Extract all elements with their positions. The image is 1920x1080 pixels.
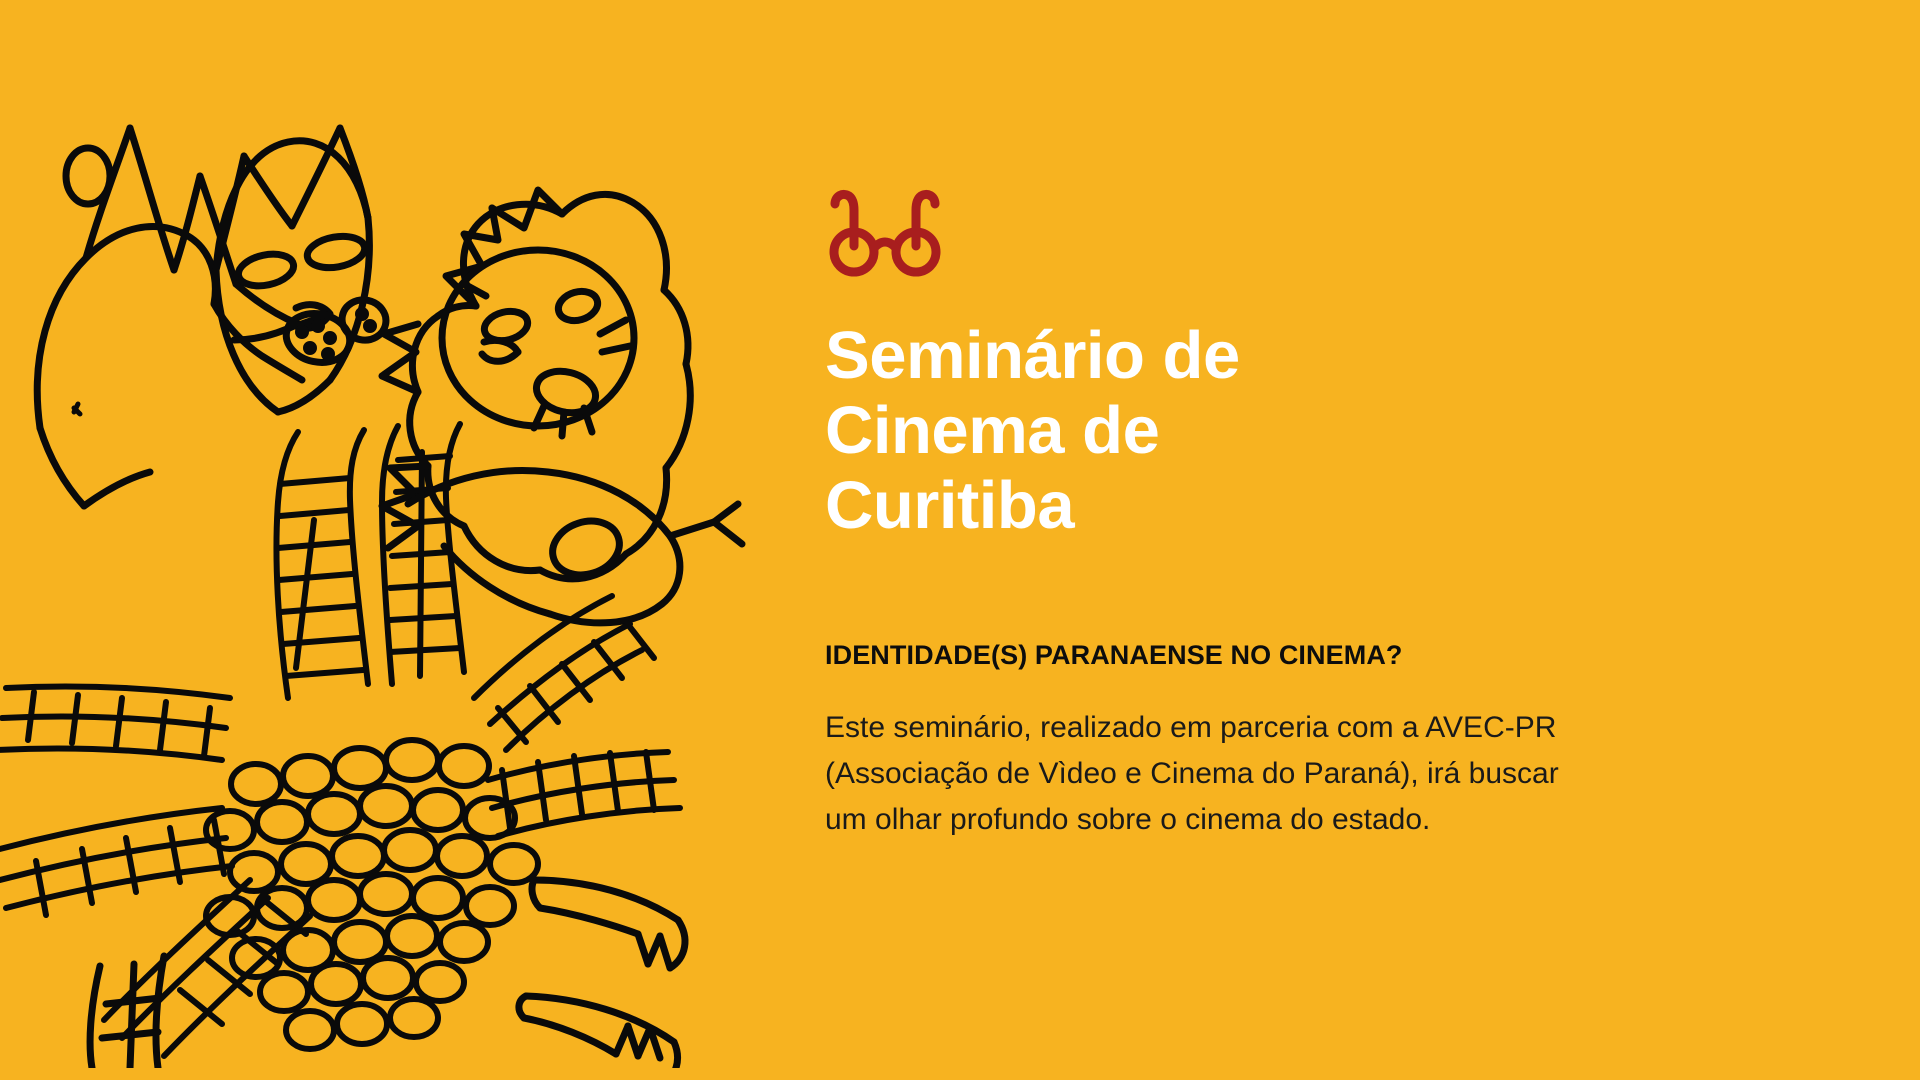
section-heading: IDENTIDADE(S) PARANAENSE NO CINEMA? xyxy=(825,638,1403,672)
eyeglasses-icon xyxy=(825,188,945,280)
head-bird-left xyxy=(37,128,302,506)
head-lion-right xyxy=(382,190,690,579)
creature-necks xyxy=(0,424,680,1056)
body-paragraph: Este seminário, realizado em parceria co… xyxy=(825,705,1595,843)
creature-illustration xyxy=(0,8,768,1068)
head-snake-lower-right xyxy=(408,470,742,622)
content-column: Seminário de Cinema de Curitiba IDENTIDA… xyxy=(825,0,1825,1080)
creature-body-scales xyxy=(206,740,538,1049)
slide-canvas: Seminário de Cinema de Curitiba IDENTIDA… xyxy=(0,0,1920,1080)
page-title: Seminário de Cinema de Curitiba xyxy=(825,318,1445,543)
creature-legs xyxy=(90,956,164,1068)
creature-claws xyxy=(519,880,685,1068)
head-cat-centre xyxy=(216,128,390,412)
ink-marks xyxy=(74,404,80,414)
brand-logo[interactable] xyxy=(825,188,945,280)
